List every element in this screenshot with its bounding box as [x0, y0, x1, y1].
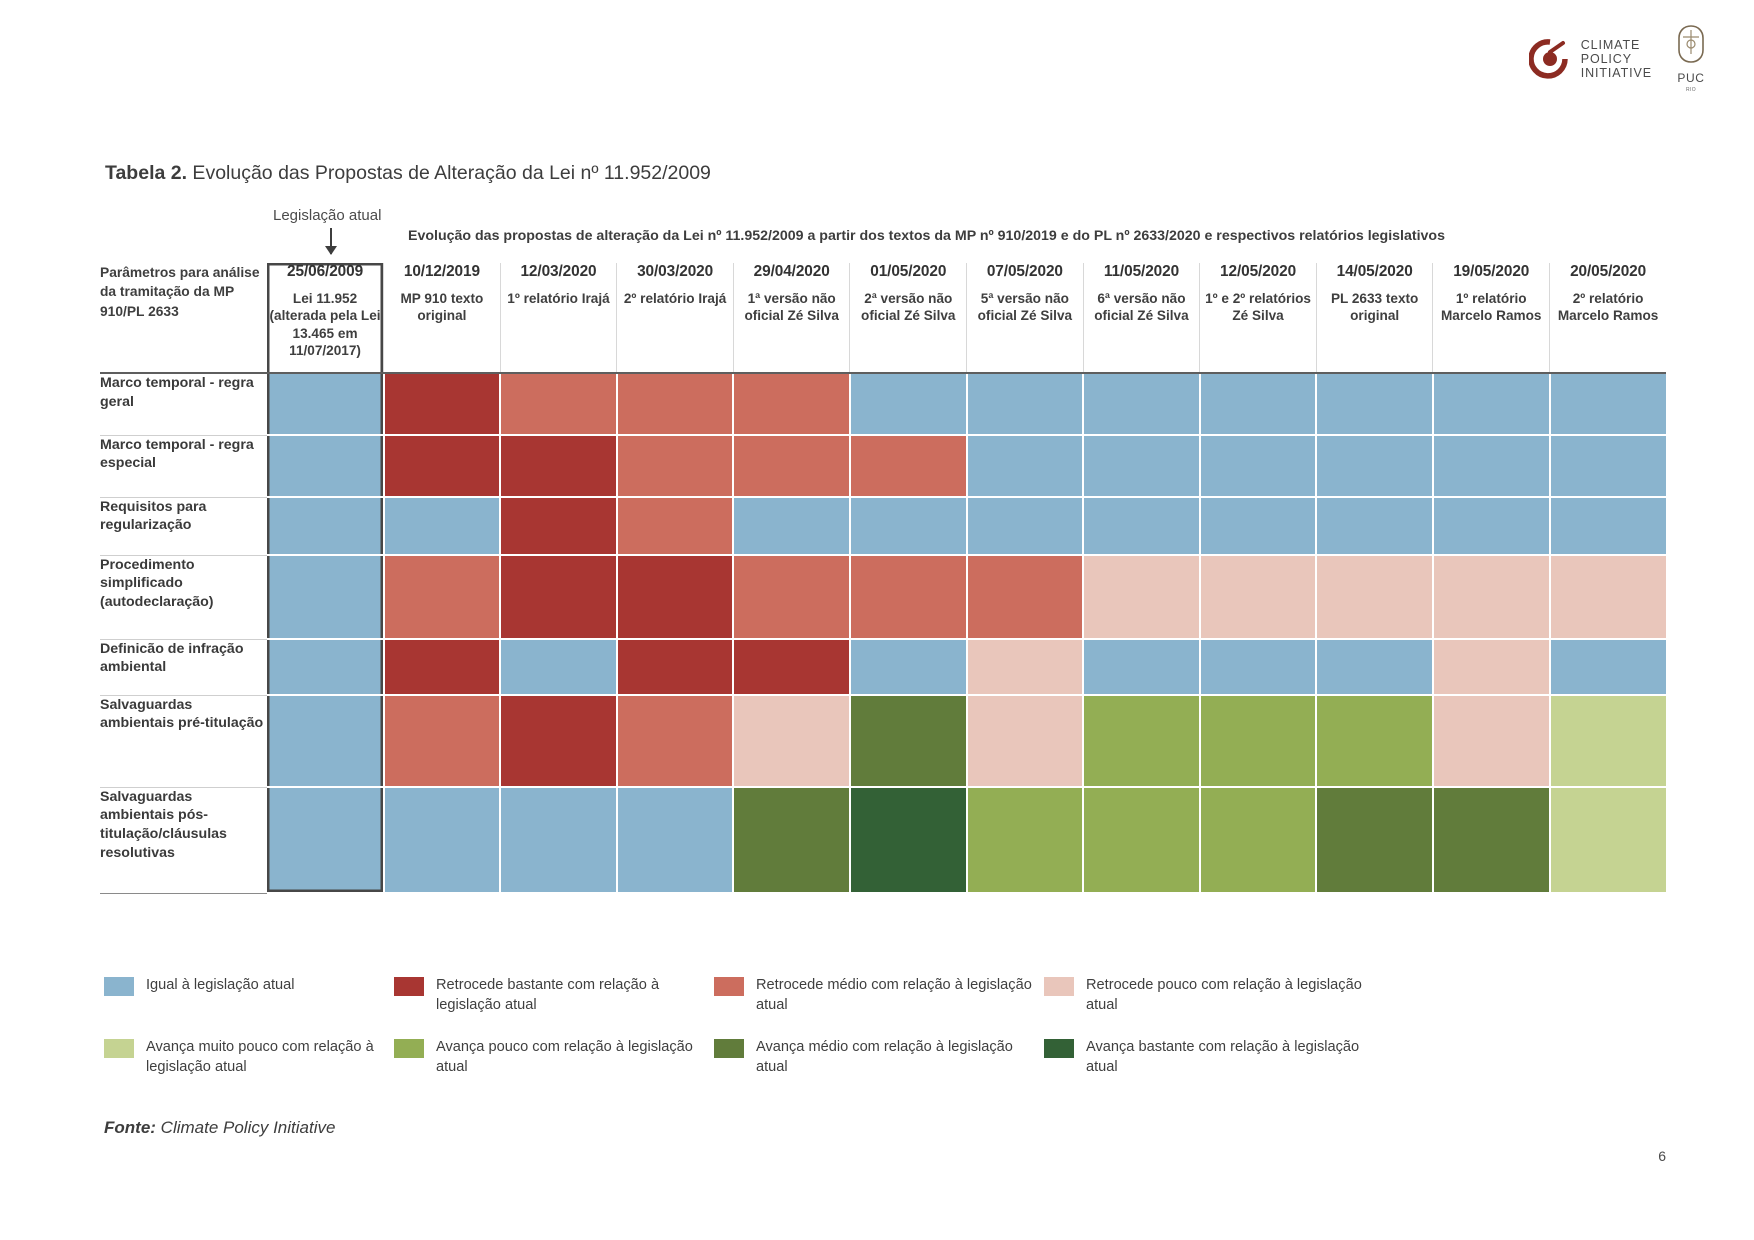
- heatmap-cell-r2-c2: [500, 497, 617, 555]
- evolution-banner: Evolução das propostas de alteração da L…: [408, 228, 1445, 244]
- heatmap-cell-r0-c6: [967, 373, 1084, 435]
- legend-label-avanca_pouco: Avança pouco com relação à legislação at…: [436, 1037, 714, 1077]
- cpi-wordmark: CLIMATE POLICY INITIATIVE: [1581, 38, 1652, 80]
- heatmap-cell-r3-c11: [1550, 555, 1667, 639]
- column-date-11: 20/05/2020: [1550, 263, 1666, 281]
- column-date-2: 12/03/2020: [501, 263, 617, 281]
- heatmap-cell-r6-c3: [617, 787, 734, 893]
- heatmap-cell-r1-c7: [1083, 435, 1200, 497]
- heatmap-cell-r4-c5: [850, 639, 967, 695]
- row-label-0: Marco temporal - regra geral: [100, 373, 267, 435]
- heatmap-cell-r1-c6: [967, 435, 1084, 497]
- page-number: 6: [1658, 1148, 1666, 1164]
- cpi-logo: CLIMATE POLICY INITIATIVE: [1529, 38, 1652, 80]
- heatmap-cell-r3-c8: [1200, 555, 1317, 639]
- heatmap-cell-r2-c5: [850, 497, 967, 555]
- row-label-4: Definicão de infração ambiental: [100, 639, 267, 695]
- column-date-1: 10/12/2019: [384, 263, 500, 281]
- heatmap-cell-r2-c0: [267, 497, 384, 555]
- column-desc-11: 2º relatório Marcelo Ramos: [1550, 290, 1666, 325]
- heatmap-cell-r5-c7: [1083, 695, 1200, 787]
- table-header-row: Parâmetros para análise da tramitação da…: [100, 263, 1666, 373]
- legend: Igual à legislação atualRetrocede bastan…: [104, 975, 1424, 1078]
- table-row: Salvaguardas ambientais pós-titulação/cl…: [100, 787, 1666, 893]
- heatmap-cell-r3-c9: [1316, 555, 1433, 639]
- column-date-0: 25/06/2009: [267, 263, 383, 281]
- source-note: Fonte: Climate Policy Initiative: [104, 1118, 335, 1138]
- heatmap-cell-r5-c4: [733, 695, 850, 787]
- column-header-5: 01/05/2020 2ª versão não oficial Zé Silv…: [850, 263, 967, 373]
- heatmap-cell-r1-c8: [1200, 435, 1317, 497]
- puc-name-label: PUC: [1677, 71, 1704, 85]
- heatmap-cell-r4-c8: [1200, 639, 1317, 695]
- heatmap-cell-r2-c3: [617, 497, 734, 555]
- column-header-9: 14/05/2020 PL 2633 texto original: [1316, 263, 1433, 373]
- heatmap-cell-r5-c5: [850, 695, 967, 787]
- table-row: Salvaguardas ambientais pré-titulação: [100, 695, 1666, 787]
- puc-crest-icon: [1674, 24, 1708, 69]
- heatmap-cell-r2-c9: [1316, 497, 1433, 555]
- row-label-1: Marco temporal - regra especial: [100, 435, 267, 497]
- legend-swatch-igual: [104, 977, 134, 996]
- heatmap-cell-r2-c11: [1550, 497, 1667, 555]
- heatmap-cell-r6-c8: [1200, 787, 1317, 893]
- table-row: Requisitos para regularização: [100, 497, 1666, 555]
- heatmap-cell-r3-c5: [850, 555, 967, 639]
- legend-swatch-avanca_medio: [714, 1039, 744, 1058]
- heatmap-cell-r6-c4: [733, 787, 850, 893]
- heatmap-cell-r6-c9: [1316, 787, 1433, 893]
- heatmap-cell-r2-c7: [1083, 497, 1200, 555]
- brand-header: CLIMATE POLICY INITIATIVE PUC RIO: [1529, 24, 1708, 93]
- heatmap-cell-r2-c8: [1200, 497, 1317, 555]
- heatmap-cell-r1-c11: [1550, 435, 1667, 497]
- heatmap-cell-r2-c1: [384, 497, 501, 555]
- column-date-6: 07/05/2020: [967, 263, 1083, 281]
- legend-item-retrocede_bastante: Retrocede bastante com relação à legisla…: [394, 975, 714, 1015]
- puc-logo: PUC RIO: [1674, 24, 1708, 93]
- table-row: Marco temporal - regra geral: [100, 373, 1666, 435]
- legend-item-igual: Igual à legislação atual: [104, 975, 394, 1015]
- puc-sub-label: RIO: [1686, 87, 1696, 93]
- table-row: Procedimento simplificado (autodeclaraçã…: [100, 555, 1666, 639]
- heatmap-cell-r2-c10: [1433, 497, 1550, 555]
- column-desc-6: 5ª versão não oficial Zé Silva: [967, 290, 1083, 325]
- heatmap-cell-r3-c4: [733, 555, 850, 639]
- heatmap-cell-r0-c1: [384, 373, 501, 435]
- heatmap-cell-r1-c5: [850, 435, 967, 497]
- column-date-9: 14/05/2020: [1317, 263, 1433, 281]
- heatmap-cell-r0-c8: [1200, 373, 1317, 435]
- column-desc-9: PL 2633 texto original: [1317, 290, 1433, 325]
- heatmap-cell-r4-c3: [617, 639, 734, 695]
- column-header-0: 25/06/2009 Lei 11.952 (alterada pela Lei…: [267, 263, 384, 373]
- column-header-2: 12/03/2020 1º relatório Irajá: [500, 263, 617, 373]
- heatmap-cell-r2-c6: [967, 497, 1084, 555]
- heatmap-cell-r3-c7: [1083, 555, 1200, 639]
- heatmap-cell-r3-c2: [500, 555, 617, 639]
- heatmap-cell-r5-c2: [500, 695, 617, 787]
- column-header-3: 30/03/2020 2º relatório Irajá: [617, 263, 734, 373]
- column-date-5: 01/05/2020: [850, 263, 966, 281]
- cpi-swirl-icon: [1529, 38, 1571, 80]
- heatmap-cell-r0-c0: [267, 373, 384, 435]
- heatmap-cell-r3-c10: [1433, 555, 1550, 639]
- column-header-8: 12/05/2020 1º e 2º relatórios Zé Silva: [1200, 263, 1317, 373]
- legend-label-avanca_medio: Avança médio com relação à legislação at…: [756, 1037, 1044, 1077]
- heatmap-cell-r2-c4: [733, 497, 850, 555]
- heatmap-cell-r0-c9: [1316, 373, 1433, 435]
- page-title: Tabela 2. Evolução das Propostas de Alte…: [105, 162, 711, 185]
- heatmap-cell-r5-c9: [1316, 695, 1433, 787]
- heatmap-cell-r0-c3: [617, 373, 734, 435]
- legend-label-retrocede_bastante: Retrocede bastante com relação à legisla…: [436, 975, 714, 1015]
- legend-item-avanca_pouco: Avança pouco com relação à legislação at…: [394, 1037, 714, 1077]
- column-header-1: 10/12/2019 MP 910 texto original: [384, 263, 501, 373]
- heatmap-cell-r6-c5: [850, 787, 967, 893]
- row-label-2: Requisitos para regularização: [100, 497, 267, 555]
- heatmap-cell-r3-c3: [617, 555, 734, 639]
- table-row: Definicão de infração ambiental: [100, 639, 1666, 695]
- heatmap-cell-r5-c1: [384, 695, 501, 787]
- source-label: Fonte:: [104, 1118, 156, 1137]
- table-label: Tabela 2.: [105, 162, 187, 184]
- legend-label-retrocede_pouco: Retrocede pouco com relação à legislação…: [1086, 975, 1374, 1015]
- legend-swatch-avanca_muito_pouco: [104, 1039, 134, 1058]
- heatmap-cell-r4-c10: [1433, 639, 1550, 695]
- column-header-11: 20/05/2020 2º relatório Marcelo Ramos: [1550, 263, 1667, 373]
- heatmap-cell-r5-c11: [1550, 695, 1667, 787]
- legend-label-retrocede_medio: Retrocede médio com relação à legislação…: [756, 975, 1044, 1015]
- heatmap-cell-r6-c10: [1433, 787, 1550, 893]
- heatmap-cell-r0-c10: [1433, 373, 1550, 435]
- column-desc-8: 1º e 2º relatórios Zé Silva: [1200, 290, 1316, 325]
- heatmap-cell-r6-c2: [500, 787, 617, 893]
- legend-item-retrocede_medio: Retrocede médio com relação à legislação…: [714, 975, 1044, 1015]
- column-header-4: 29/04/2020 1ª versão não oficial Zé Silv…: [733, 263, 850, 373]
- column-date-10: 19/05/2020: [1433, 263, 1549, 281]
- heatmap-cell-r4-c11: [1550, 639, 1667, 695]
- heatmap-cell-r1-c9: [1316, 435, 1433, 497]
- heatmap-cell-r4-c4: [733, 639, 850, 695]
- heatmap-cell-r1-c4: [733, 435, 850, 497]
- column-header-6: 07/05/2020 5ª versão não oficial Zé Silv…: [967, 263, 1084, 373]
- heatmap-cell-r1-c1: [384, 435, 501, 497]
- heatmap-cell-r4-c7: [1083, 639, 1200, 695]
- cpi-word-policy: POLICY: [1581, 52, 1652, 66]
- heatmap-cell-r1-c0: [267, 435, 384, 497]
- heatmap-cell-r0-c2: [500, 373, 617, 435]
- column-header-7: 11/05/2020 6ª versão não oficial Zé Silv…: [1083, 263, 1200, 373]
- column-desc-0: Lei 11.952 (alterada pela Lei 13.465 em …: [267, 290, 383, 360]
- table-row: Marco temporal - regra especial: [100, 435, 1666, 497]
- heatmap-cell-r0-c7: [1083, 373, 1200, 435]
- legend-swatch-avanca_pouco: [394, 1039, 424, 1058]
- column-date-3: 30/03/2020: [617, 263, 733, 281]
- legislacao-atual-annotation: Legislação atual: [273, 207, 381, 224]
- evolution-table: Parâmetros para análise da tramitação da…: [100, 263, 1666, 894]
- param-column-header: Parâmetros para análise da tramitação da…: [100, 263, 267, 373]
- heatmap-cell-r5-c0: [267, 695, 384, 787]
- column-date-8: 12/05/2020: [1200, 263, 1316, 281]
- legend-swatch-retrocede_bastante: [394, 977, 424, 996]
- row-label-5: Salvaguardas ambientais pré-titulação: [100, 695, 267, 787]
- heatmap-cell-r3-c0: [267, 555, 384, 639]
- column-date-4: 29/04/2020: [734, 263, 850, 281]
- heatmap-cell-r0-c11: [1550, 373, 1667, 435]
- heatmap-cell-r6-c11: [1550, 787, 1667, 893]
- heatmap-cell-r4-c6: [967, 639, 1084, 695]
- heatmap-cell-r4-c1: [384, 639, 501, 695]
- heatmap-cell-r4-c0: [267, 639, 384, 695]
- heatmap-cell-r3-c1: [384, 555, 501, 639]
- legend-item-avanca_bastante: Avança bastante com relação à legislação…: [1044, 1037, 1374, 1077]
- column-desc-1: MP 910 texto original: [384, 290, 500, 325]
- heatmap-cell-r5-c3: [617, 695, 734, 787]
- legend-label-avanca_bastante: Avança bastante com relação à legislação…: [1086, 1037, 1374, 1077]
- source-value: Climate Policy Initiative: [156, 1118, 336, 1137]
- legend-label-igual: Igual à legislação atual: [146, 975, 294, 995]
- heatmap-cell-r4-c2: [500, 639, 617, 695]
- legend-swatch-avanca_bastante: [1044, 1039, 1074, 1058]
- column-desc-4: 1ª versão não oficial Zé Silva: [734, 290, 850, 325]
- table-body: Marco temporal - regra geralMarco tempor…: [100, 373, 1666, 893]
- heatmap-cell-r5-c8: [1200, 695, 1317, 787]
- cpi-word-initiative: INITIATIVE: [1581, 66, 1652, 80]
- heatmap-cell-r4-c9: [1316, 639, 1433, 695]
- legend-item-retrocede_pouco: Retrocede pouco com relação à legislação…: [1044, 975, 1374, 1015]
- cpi-word-climate: CLIMATE: [1581, 38, 1652, 52]
- heatmap-cell-r1-c2: [500, 435, 617, 497]
- legend-item-avanca_medio: Avança médio com relação à legislação at…: [714, 1037, 1044, 1077]
- heatmap-cell-r0-c4: [733, 373, 850, 435]
- down-arrow-icon: [330, 228, 332, 254]
- row-label-6: Salvaguardas ambientais pós-titulação/cl…: [100, 787, 267, 893]
- heatmap-cell-r6-c0: [267, 787, 384, 893]
- column-date-7: 11/05/2020: [1084, 263, 1200, 281]
- heatmap-cell-r0-c5: [850, 373, 967, 435]
- heatmap-cell-r5-c6: [967, 695, 1084, 787]
- heatmap-cell-r3-c6: [967, 555, 1084, 639]
- column-desc-10: 1º relatório Marcelo Ramos: [1433, 290, 1549, 325]
- heatmap-cell-r1-c10: [1433, 435, 1550, 497]
- row-label-3: Procedimento simplificado (autodeclaraçã…: [100, 555, 267, 639]
- column-desc-5: 2ª versão não oficial Zé Silva: [850, 290, 966, 325]
- legend-swatch-retrocede_medio: [714, 977, 744, 996]
- heatmap-cell-r6-c1: [384, 787, 501, 893]
- legend-swatch-retrocede_pouco: [1044, 977, 1074, 996]
- column-desc-7: 6ª versão não oficial Zé Silva: [1084, 290, 1200, 325]
- column-header-10: 19/05/2020 1º relatório Marcelo Ramos: [1433, 263, 1550, 373]
- heatmap-cell-r1-c3: [617, 435, 734, 497]
- column-desc-3: 2º relatório Irajá: [617, 290, 733, 307]
- heatmap-cell-r5-c10: [1433, 695, 1550, 787]
- legend-label-avanca_muito_pouco: Avança muito pouco com relação à legisla…: [146, 1037, 394, 1077]
- heatmap-cell-r6-c6: [967, 787, 1084, 893]
- table-title-text: Evolução das Propostas de Alteração da L…: [187, 162, 711, 184]
- legend-item-avanca_muito_pouco: Avança muito pouco com relação à legisla…: [104, 1037, 394, 1077]
- heatmap-cell-r6-c7: [1083, 787, 1200, 893]
- column-desc-2: 1º relatório Irajá: [501, 290, 617, 307]
